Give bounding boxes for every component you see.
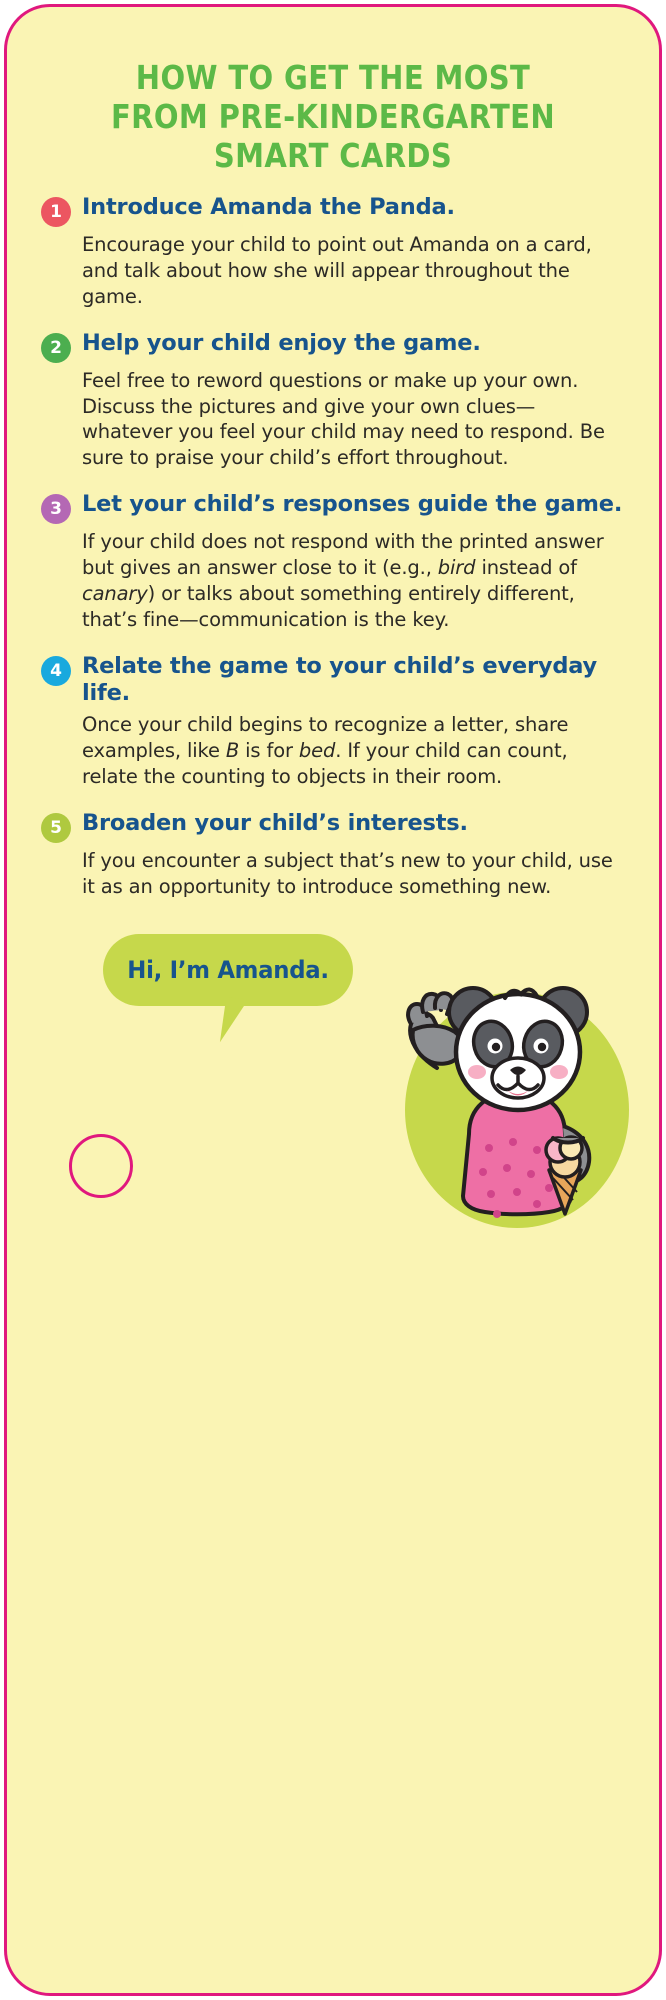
mascot-section: Hi, I’m Amanda. <box>7 920 659 1250</box>
step-body-text: Encourage your child to point out Amanda… <box>82 233 592 308</box>
step-heading: Help your child enjoy the game. <box>82 330 625 357</box>
step-body: If your child does not respond with the … <box>82 529 625 633</box>
step-number-badge: 5 <box>41 813 71 843</box>
page-title-line-3: SMART CARDS <box>85 137 581 176</box>
step-body: If you encounter a subject that’s new to… <box>82 848 625 900</box>
step-header: 4 Relate the game to your child’s everyd… <box>41 653 625 707</box>
step-heading: Broaden your child’s interests. <box>82 810 625 837</box>
page-title-line-2: FROM PRE-KINDERGARTEN <box>85 98 581 137</box>
list-item: 2 Help your child enjoy the game. Feel f… <box>41 330 625 472</box>
smart-card-instruction-card: HOW TO GET THE MOST FROM PRE-KINDERGARTE… <box>4 4 662 1996</box>
list-item: 1 Introduce Amanda the Panda. Encourage … <box>41 194 625 310</box>
list-item: 3 Let your child’s responses guide the g… <box>41 491 625 633</box>
step-body: Feel free to reword questions or make up… <box>82 368 625 472</box>
step-body-text: If you encounter a subject that’s new to… <box>82 849 613 898</box>
step-heading: Let your child’s responses guide the gam… <box>82 491 625 518</box>
step-body-text: Feel free to reword questions or make up… <box>82 369 605 470</box>
step-body: Encourage your child to point out Amanda… <box>82 232 625 310</box>
step-number-badge: 3 <box>41 494 71 524</box>
page-title: HOW TO GET THE MOST FROM PRE-KINDERGARTE… <box>46 7 620 176</box>
step-header: 3 Let your child’s responses guide the g… <box>41 491 625 524</box>
steps-list: 1 Introduce Amanda the Panda. Encourage … <box>7 176 659 900</box>
list-item: 4 Relate the game to your child’s everyd… <box>41 653 625 790</box>
amanda-the-panda-illustration <box>377 920 637 1230</box>
step-heading: Introduce Amanda the Panda. <box>82 194 625 221</box>
step-header: 2 Help your child enjoy the game. <box>41 330 625 363</box>
step-number-badge: 1 <box>41 197 71 227</box>
list-item: 5 Broaden your child’s interests. If you… <box>41 810 625 900</box>
registration-circle-mark <box>69 1134 133 1198</box>
step-header: 5 Broaden your child’s interests. <box>41 810 625 843</box>
speech-bubble-text: Hi, I’m Amanda. <box>109 934 347 1006</box>
page-title-line-1: HOW TO GET THE MOST <box>85 59 581 98</box>
step-heading: Relate the game to your child’s everyday… <box>82 653 625 707</box>
step-number-badge: 2 <box>41 333 71 363</box>
step-number-badge: 4 <box>41 656 71 686</box>
step-header: 1 Introduce Amanda the Panda. <box>41 194 625 227</box>
step-body: Once your child begins to recognize a le… <box>82 712 625 790</box>
